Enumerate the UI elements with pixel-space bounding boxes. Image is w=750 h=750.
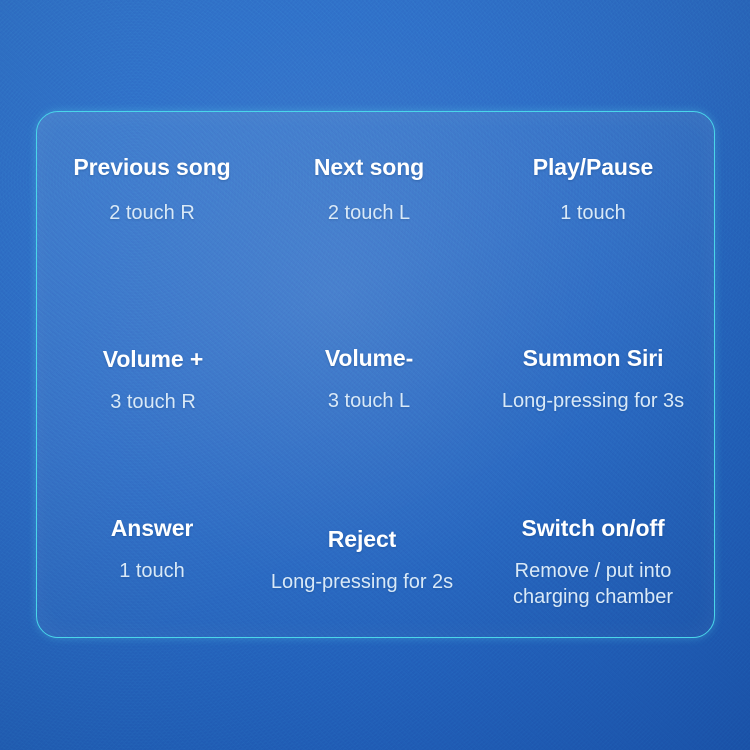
screen: Previous song 2 touch R Next song 2 touc… [0,0,750,750]
control-subtitle: 3 touch R [103,389,203,415]
control-cell-volume-down: Volume- 3 touch L [325,344,413,414]
control-title: Play/Pause [533,153,653,181]
touch-control-panel: Previous song 2 touch R Next song 2 touc… [36,111,715,638]
control-cell-switch-on-off: Switch on/off Remove / put into charging… [486,514,701,610]
control-title: Previous song [73,153,230,181]
control-cell-previous-song: Previous song 2 touch R [73,153,230,226]
control-subtitle: 1 touch [111,558,193,584]
control-cell-next-song: Next song 2 touch L [314,153,424,226]
control-cell-answer: Answer 1 touch [111,514,193,584]
control-subtitle: 2 touch R [73,200,230,226]
control-subtitle: Long-pressing for 3s [502,388,684,414]
control-title: Switch on/off [486,514,701,542]
control-cell-volume-up: Volume + 3 touch R [103,345,203,415]
control-title: Answer [111,514,193,542]
control-subtitle: Long-pressing for 2s [271,569,453,595]
control-title: Next song [314,153,424,181]
control-title: Reject [271,525,453,553]
control-subtitle: Remove / put into charging chamber [486,558,701,610]
control-cell-play-pause: Play/Pause 1 touch [533,153,653,226]
control-cell-summon-siri: Summon Siri Long-pressing for 3s [502,344,684,414]
control-subtitle: 1 touch [533,200,653,226]
control-subtitle: 3 touch L [325,388,413,414]
control-title: Volume + [103,345,203,373]
control-title: Volume- [325,344,413,372]
control-subtitle: 2 touch L [314,200,424,226]
control-cell-reject: Reject Long-pressing for 2s [271,525,453,595]
control-title: Summon Siri [502,344,684,372]
